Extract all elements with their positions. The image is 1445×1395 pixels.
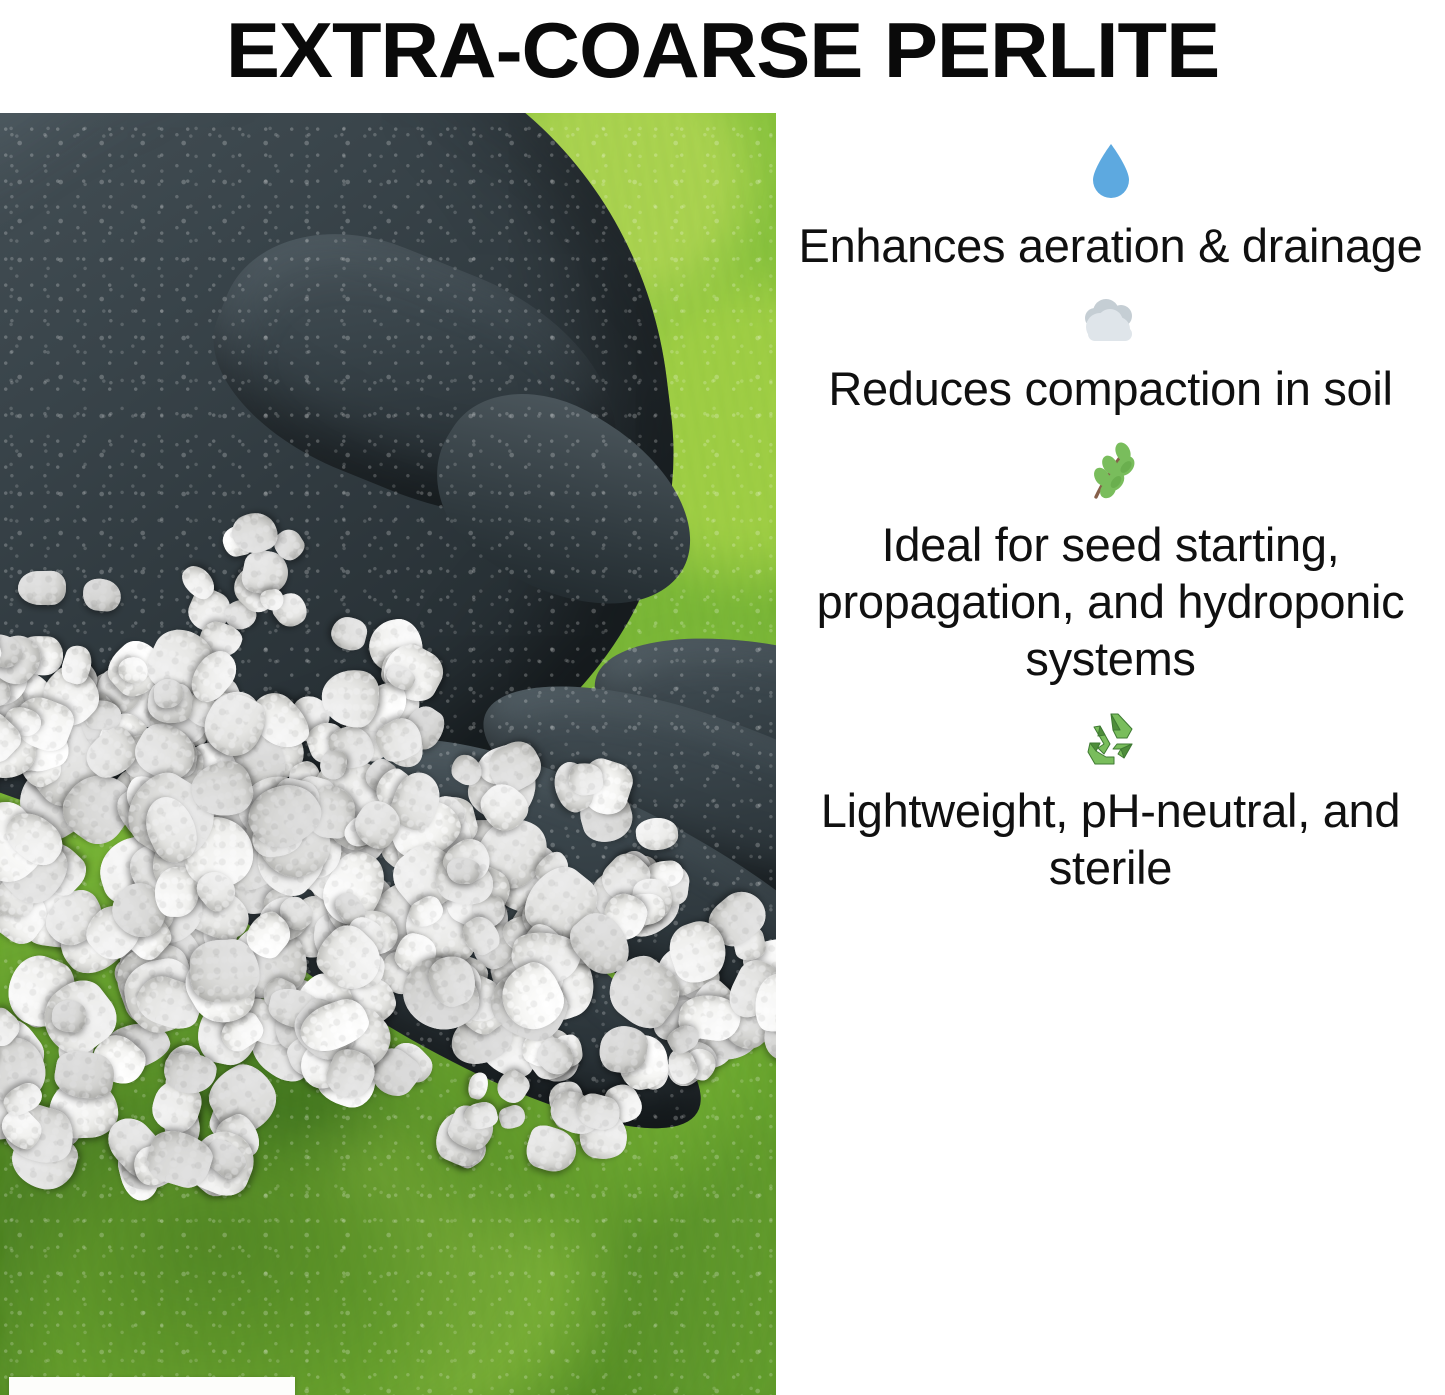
recycle-icon (1080, 710, 1142, 768)
feature-text-1: Enhances aeration & drainage (799, 217, 1423, 274)
feature-item-1: Enhances aeration & drainage (786, 141, 1435, 274)
feature-text-2: Reduces compaction in soil (828, 360, 1392, 417)
product-infographic: EXTRA-COARSE PERLITE (0, 0, 1445, 1395)
herb-sprig-icon (1082, 440, 1140, 502)
cloud-icon (1078, 296, 1144, 346)
perlite-granule (328, 613, 370, 653)
page-title: EXTRA-COARSE PERLITE (0, 0, 1445, 100)
perlite-granule (447, 858, 480, 884)
perlite-granules (0, 113, 776, 1395)
product-photo: MY GARDENWISE BETTER GARDENS START HERE (0, 113, 776, 1395)
perlite-granule (496, 1102, 528, 1131)
feature-item-3: Ideal for seed starting, propagation, an… (786, 440, 1435, 688)
perlite-granule (81, 577, 122, 612)
perlite-granule (51, 999, 86, 1033)
feature-list: Enhances aeration & drainage Reduces com… (776, 113, 1445, 1395)
feature-item-4: Lightweight, pH-neutral, and sterile (786, 710, 1435, 897)
perlite-granule (466, 1070, 491, 1101)
water-droplet-icon (1088, 141, 1134, 203)
feature-text-4: Lightweight, pH-neutral, and sterile (791, 782, 1431, 897)
perlite-granule (153, 678, 182, 707)
perlite-granule (635, 816, 679, 850)
perlite-granule (18, 571, 66, 606)
brand-logo: MY GARDENWISE BETTER GARDENS START HERE (9, 1377, 295, 1395)
feature-text-3: Ideal for seed starting, propagation, an… (791, 516, 1431, 688)
feature-item-2: Reduces compaction in soil (786, 296, 1435, 417)
